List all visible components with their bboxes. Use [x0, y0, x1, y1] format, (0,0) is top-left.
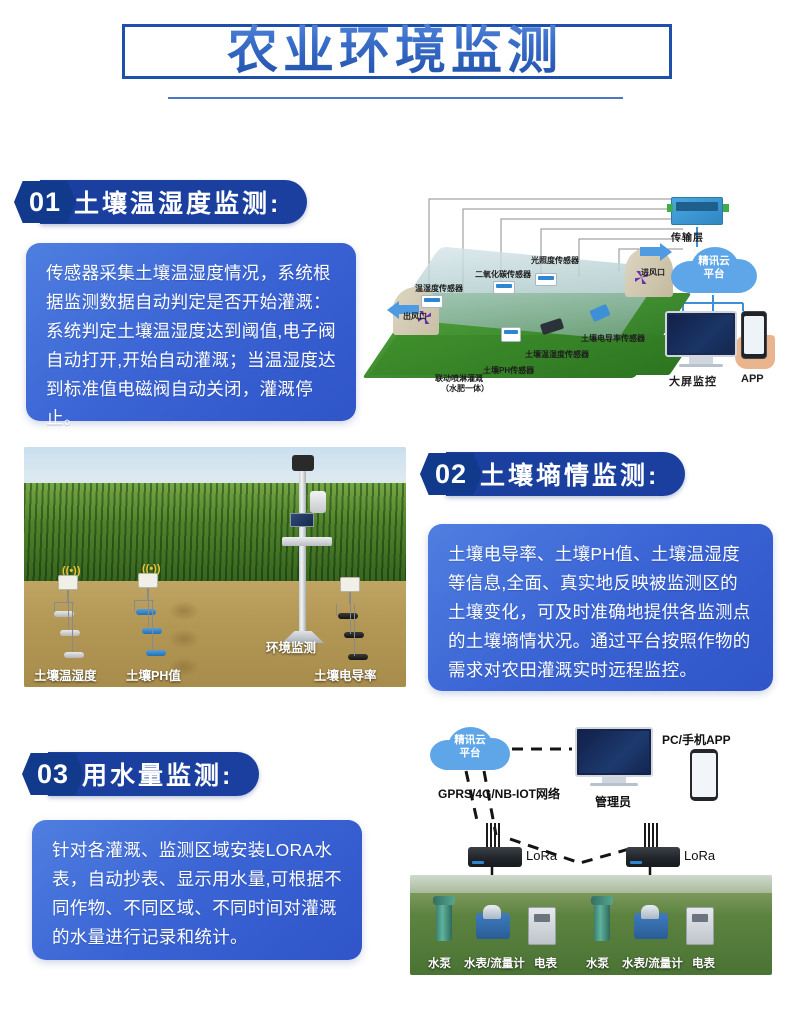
lora-field-photo: 水泵 水表/流量计 电表 水泵 水表/流量计 电表 — [410, 875, 772, 975]
field-monitoring-photo: ((•)) ((•)) 环境监测 土壤温湿度 土壤PH值 土壤电导率 — [24, 447, 406, 687]
water-pump-left — [436, 901, 452, 941]
label-co2-sensor: 二氧化碳传感器 — [475, 269, 531, 280]
label-irrigation-line2: （水肥一体） — [441, 383, 489, 394]
light-sensor-device — [535, 273, 557, 286]
section-body-card-03: 针对各灌溉、监测区域安装LORA水表，自动抄表、显示用水量,可根据不同作物、不同… — [32, 820, 362, 960]
section-body-text-03: 针对各灌溉、监测区域安装LORA水表，自动抄表、显示用水量,可根据不同作物、不同… — [52, 836, 344, 952]
label-admin: 管理员 — [595, 793, 631, 810]
page-title-banner: 农业环境监测 — [0, 0, 790, 118]
photo-corn-field — [24, 483, 406, 583]
label-app: APP — [741, 373, 764, 385]
label-network: GPRS/4G/NB-IOT网络 — [438, 785, 560, 802]
sensor-box-right — [340, 577, 360, 592]
cloud-label-line2: 平台 — [671, 268, 757, 281]
lora-cloud-label: 精讯云 平台 — [430, 734, 510, 760]
greenhouse-diagram: 出风口 进风口 温湿度传感器 二氧化碳传感器 光照度传感器 土壤PH传感器 土壤… — [383, 185, 783, 395]
lora-water-meter-diagram: 精讯云 平台 GPRS/4G/NB-IOT网络 管理员 PC/手机APP LoR… — [400, 715, 785, 980]
label-air-inlet: 进风口 — [641, 267, 665, 278]
co2-sensor-device — [493, 281, 515, 294]
inlet-arrow-icon — [638, 243, 672, 263]
section-number-badge-03: 03 — [22, 753, 84, 795]
cloud-label-line1: 精讯云 — [671, 255, 757, 268]
section-body-card-01: 传感器采集土壤温湿度情况，系统根据监测数据自动判定是否开始灌溉：系统判定土壤温湿… — [26, 243, 356, 421]
lora-antenna-left-3 — [494, 823, 496, 849]
admin-monitor — [575, 727, 653, 777]
label-gateway-right: LoRa — [684, 848, 715, 863]
label-gateway-left: LoRa — [526, 848, 557, 863]
weather-station-radiation-shield — [310, 491, 326, 513]
section-number-badge-02: 02 — [420, 453, 482, 495]
soil-ph-probe-1 — [136, 609, 156, 615]
label-temp-humidity-sensor: 温湿度传感器 — [415, 283, 463, 294]
monitor-stand — [689, 357, 713, 364]
section-number-03: 03 — [37, 759, 69, 790]
label-electric-meter-left: 电表 — [534, 955, 557, 971]
label-water-meter-left: 水表/流量计 — [464, 955, 525, 971]
sensor-box-mid — [138, 573, 158, 588]
lora-mobile-phone — [690, 749, 718, 801]
label-electric-meter-right: 电表 — [692, 955, 715, 971]
label-soil-ph-sensor: 土壤PH传感器 — [483, 365, 534, 376]
section-heading-01: 土壤温湿度监测: — [74, 184, 281, 220]
section-body-text-02: 土壤电导率、土壤PH值、土壤温湿度等信息,全面、真实地反映被监测区的土壤变化，可… — [448, 540, 755, 685]
wire-seg — [152, 600, 153, 652]
weather-station-arm — [282, 537, 332, 546]
page-title: 农业环境监测 — [0, 20, 790, 82]
wire-right-trunk — [349, 592, 351, 604]
mobile-phone-device — [741, 311, 767, 359]
big-screen-monitor — [665, 311, 737, 357]
soil-probe-2 — [60, 630, 80, 636]
lora-antenna-left-4 — [498, 823, 500, 849]
label-pump-left: 水泵 — [428, 955, 451, 971]
wire-seg — [134, 600, 135, 612]
wire-seg — [336, 604, 337, 616]
section-heading-03: 用水量监测: — [82, 756, 233, 792]
label-light-sensor: 光照度传感器 — [531, 255, 579, 266]
lora-antenna-right-4 — [656, 823, 658, 849]
lora-gateway-left — [468, 847, 522, 867]
wire-seg — [68, 602, 69, 632]
lora-field-sky — [410, 875, 772, 893]
label-soil-ec: 土壤电导率 — [314, 665, 377, 684]
label-pc-app: PC/手机APP — [662, 731, 731, 748]
wire-mid-trunk — [147, 588, 149, 600]
sensor-box-left — [58, 575, 78, 590]
lora-gateway-right — [626, 847, 680, 867]
lora-antenna-left-2 — [490, 823, 492, 849]
label-big-screen: 大屏监控 — [669, 373, 717, 389]
wire-seg — [54, 602, 74, 603]
lora-cloud-label-line2: 平台 — [430, 747, 510, 760]
lora-antenna-right-2 — [648, 823, 650, 849]
label-env-monitoring: 环境监测 — [266, 637, 316, 656]
weather-station-mast — [299, 465, 306, 635]
lora-antenna-left-1 — [486, 823, 488, 849]
admin-monitor-foot — [590, 783, 638, 786]
electric-meter-right — [686, 907, 714, 945]
transmission-gateway-device — [671, 197, 723, 225]
label-pump-right: 水泵 — [586, 955, 609, 971]
wire-seg — [354, 604, 355, 656]
weather-station-solar-panel — [290, 513, 314, 527]
section-number-badge-01: 01 — [14, 181, 76, 223]
title-underline — [168, 97, 623, 99]
label-soil-ec-sensor: 土壤电导率传感器 — [581, 333, 645, 344]
soil-probe-3 — [64, 652, 84, 658]
water-meter-right — [634, 913, 668, 939]
label-soil-temp-humidity-sensor: 土壤温湿度传感器 — [525, 349, 589, 360]
wire-seg — [134, 600, 154, 601]
wire-seg — [350, 604, 351, 634]
lora-antenna-right-3 — [652, 823, 654, 849]
soil-ec-probe-3 — [348, 654, 368, 660]
section-number-02: 02 — [435, 459, 467, 490]
lora-cloud-label-line1: 精讯云 — [430, 734, 510, 747]
soil-ec-probe-1 — [338, 613, 358, 619]
cloud-platform-label: 精讯云 平台 — [671, 255, 757, 281]
wire-left-trunk — [67, 590, 69, 602]
label-transmission-layer: 传输层 — [671, 229, 704, 244]
label-soil-temp-humidity: 土壤温湿度 — [34, 665, 97, 684]
section-pill-01: 土壤温湿度监测: — [40, 180, 307, 224]
soil-ph-sensor-device — [501, 327, 521, 342]
soil-probe-1 — [54, 611, 74, 617]
section-number-01: 01 — [29, 187, 61, 218]
section-body-text-01: 传感器采集土壤温湿度情况，系统根据监测数据自动判定是否开始灌溉：系统判定土壤温湿… — [46, 259, 338, 433]
wire-seg — [72, 602, 73, 654]
monitor-foot — [679, 364, 723, 367]
weather-station-sensor-head — [292, 455, 314, 471]
electric-meter-left — [528, 907, 556, 945]
water-pump-right — [594, 901, 610, 941]
section-body-card-02: 土壤电导率、土壤PH值、土壤温湿度等信息,全面、真实地反映被监测区的土壤变化，可… — [428, 524, 773, 691]
label-air-outlet: 出风口 — [403, 311, 427, 322]
section-heading-02: 土壤墒情监测: — [480, 456, 659, 492]
label-water-meter-right: 水表/流量计 — [622, 955, 683, 971]
label-soil-ph: 土壤PH值 — [126, 665, 181, 684]
water-meter-left — [476, 913, 510, 939]
temp-humidity-sensor-device — [421, 295, 443, 308]
soil-ph-probe-3 — [146, 650, 166, 656]
lora-antenna-right-1 — [644, 823, 646, 849]
wire-seg — [148, 600, 149, 630]
